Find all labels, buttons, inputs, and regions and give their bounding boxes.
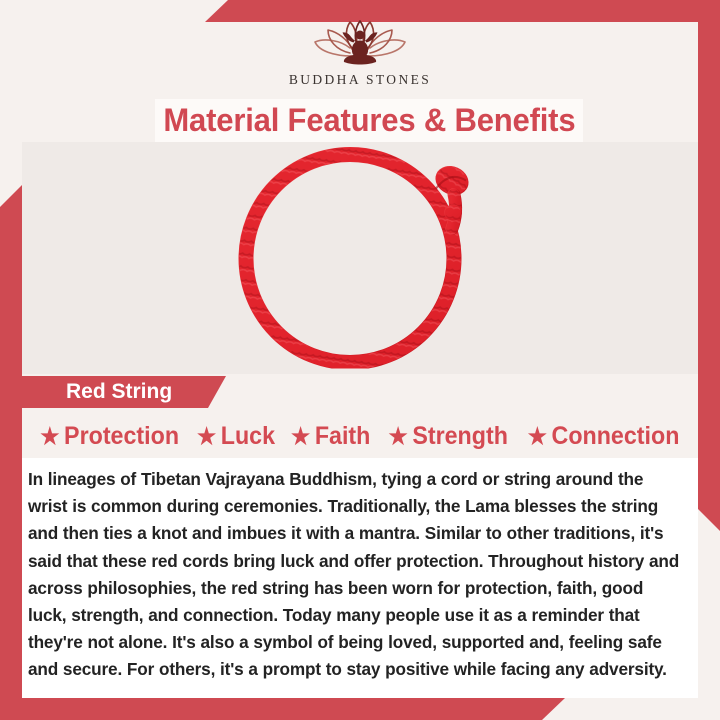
bottom-red-ribbon <box>0 698 565 720</box>
keyword-label: Faith <box>315 422 371 451</box>
product-name-banner: Red String <box>22 376 226 408</box>
brand-logo: BUDDHA STONES <box>0 14 720 96</box>
description-panel: In lineages of Tibetan Vajrayana Buddhis… <box>22 458 698 698</box>
star-icon: ★ <box>40 425 59 448</box>
lotus-meditation-icon <box>304 14 416 70</box>
benefit-keyword-list: ★ Protection ★ Luck ★ Faith ★ Strength ★… <box>22 414 698 458</box>
keyword-label: Connection <box>551 422 679 451</box>
star-icon: ★ <box>388 425 407 448</box>
keyword-strength: ★ Strength <box>388 422 507 451</box>
keyword-label: Luck <box>221 422 275 451</box>
product-photo-inner <box>230 143 490 374</box>
star-icon: ★ <box>291 425 310 448</box>
infographic-page: BUDDHA STONES Material Features & Benefi… <box>0 0 720 720</box>
keyword-label: Protection <box>64 422 179 451</box>
keyword-connection: ★ Connection <box>528 422 680 451</box>
keyword-protection: ★ Protection <box>40 422 179 451</box>
product-photo <box>22 142 698 374</box>
red-string-bracelet-icon <box>230 143 490 369</box>
star-icon: ★ <box>197 425 216 448</box>
star-icon: ★ <box>528 425 547 448</box>
left-red-ribbon <box>0 185 22 720</box>
keyword-faith: ★ Faith <box>291 422 370 451</box>
keyword-luck: ★ Luck <box>197 422 275 451</box>
brand-name: BUDDHA STONES <box>289 72 431 88</box>
keyword-label: Strength <box>412 422 508 451</box>
product-name-label: Red String <box>22 380 172 404</box>
headline-band: Material Features & Benefits <box>155 99 583 142</box>
description-text: In lineages of Tibetan Vajrayana Buddhis… <box>28 466 684 684</box>
page-title: Material Features & Benefits <box>163 102 575 139</box>
